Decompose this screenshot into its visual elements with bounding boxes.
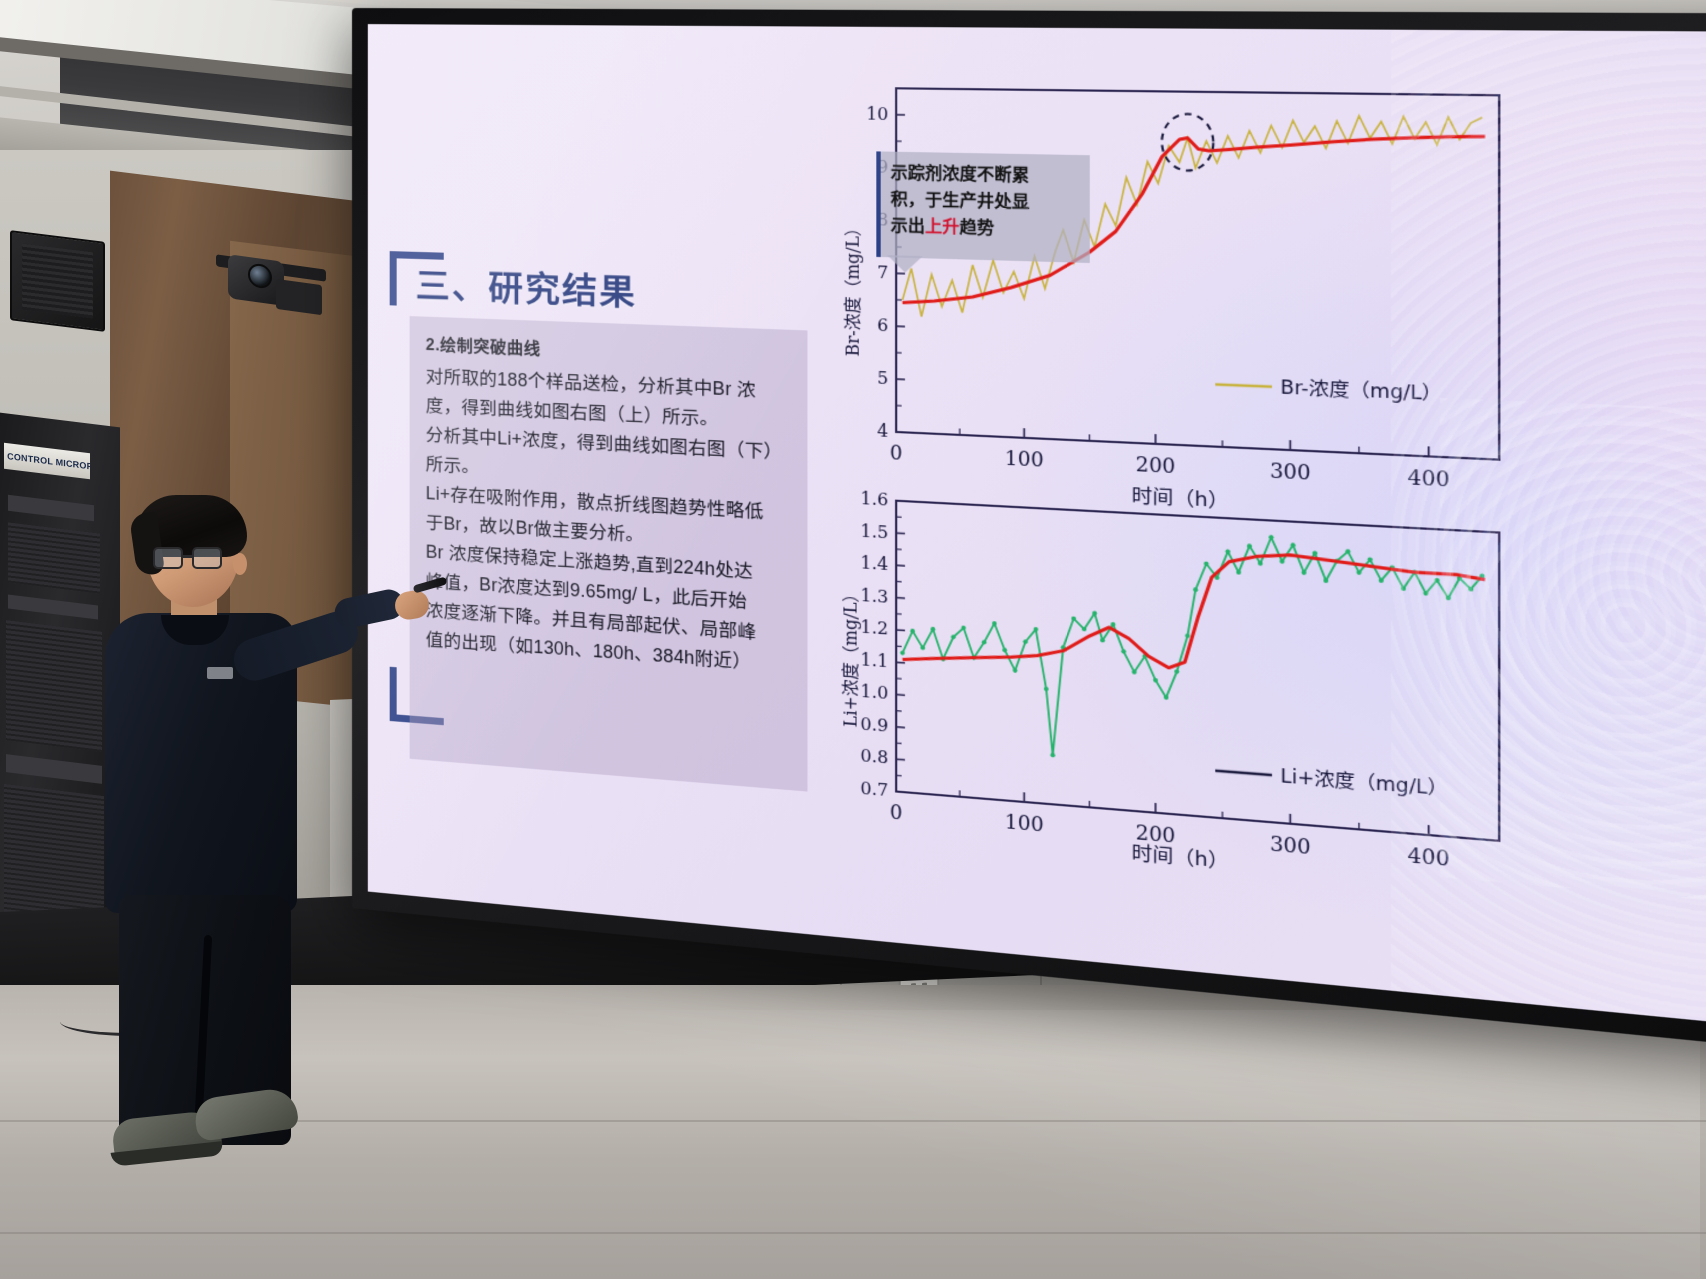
shirt-logo [207,667,233,679]
eyeglasses-left-lens [153,547,183,569]
svg-text:0.9: 0.9 [860,714,888,736]
callout-tail [887,255,922,273]
br-x-axis-ticks: 0100200300400 [890,422,1450,492]
conference-room-scene: AUDIO CONTROL MICROPHONE 三、研究结果 2.绘制突破曲线… [0,0,1706,1279]
svg-text:100: 100 [1005,448,1044,472]
eyeglasses-right-lens [192,547,222,569]
br-plot-frame [896,88,1499,459]
presenter-ear [233,553,247,575]
li-y-axis-label: Li+浓度（mg/L） [840,585,861,728]
svg-text:100: 100 [1005,811,1044,837]
speaker-grill [22,244,93,319]
slide-surface: 三、研究结果 2.绘制突破曲线 对所取的188个样品送检，分析其中Br 浓 度，… [368,24,1706,1037]
svg-text:1.3: 1.3 [860,585,888,607]
svg-text:400: 400 [1408,466,1450,492]
svg-text:1.0: 1.0 [860,681,888,703]
slide-text-panel: 2.绘制突破曲线 对所取的188个样品送检，分析其中Br 浓 度，得到曲线如图右… [410,316,808,792]
svg-text:Li+浓度（mg/L）: Li+浓度（mg/L） [1280,765,1448,800]
svg-text:300: 300 [1270,460,1311,485]
callout-text-post: 趋势 [960,219,995,238]
svg-text:0.8: 0.8 [860,746,888,768]
floor-reflection [300,1010,1700,1279]
li-raw-series [902,517,1482,788]
svg-text:4: 4 [877,420,888,441]
callout-line-1: 示踪剂浓度不断累 [891,160,1083,191]
svg-text:10: 10 [866,104,888,124]
li-chart-svg: 0.70.80.91.01.11.21.31.41.51.6 010020030… [841,487,1518,904]
li-trend-series [902,533,1485,699]
svg-text:300: 300 [1270,833,1311,860]
led-display-wall[interactable]: 三、研究结果 2.绘制突破曲线 对所取的188个样品送检，分析其中Br 浓 度，… [352,8,1706,1060]
callout-line-3: 示出上升趋势 [891,213,1083,245]
li-x-axis-label: 时间（h） [1132,842,1229,873]
presenter-person [95,495,355,1175]
rack-vent [6,620,102,752]
svg-text:1.1: 1.1 [860,649,888,671]
camera-bracket [276,279,322,315]
svg-text:5: 5 [877,368,888,389]
svg-text:0.7: 0.7 [860,778,888,800]
br-chart-svg: 45678910 0100200300400 Br-浓度（mg/L） Br-浓度… [841,77,1518,533]
svg-text:1.5: 1.5 [860,520,888,542]
br-legend: Br-浓度（mg/L） [1215,373,1442,404]
floor-tile-line [0,1232,1706,1234]
svg-text:1.6: 1.6 [860,488,888,510]
svg-text:Br-浓度（mg/L）: Br-浓度（mg/L） [1280,376,1442,405]
svg-text:1.2: 1.2 [860,617,888,639]
callout-text-pre: 示出 [891,217,925,236]
callout-box: 示踪剂浓度不断累 积，于生产井处显 示出上升趋势 [876,151,1089,263]
svg-text:6: 6 [877,315,888,336]
li-legend: Li+浓度（mg/L） [1215,760,1448,800]
svg-text:0: 0 [890,801,903,824]
li-breakthrough-chart: 0.70.80.91.01.11.21.31.41.51.6 010020030… [841,487,1518,904]
li-y-axis-ticks: 0.70.80.91.01.11.21.31.41.51.6 [860,488,905,802]
svg-text:200: 200 [1136,454,1176,479]
slide-title: 三、研究结果 [416,258,637,315]
eyeglasses-bridge [183,555,194,558]
br-breakthrough-chart: 45678910 0100200300400 Br-浓度（mg/L） Br-浓度… [841,77,1518,533]
wall-speaker [10,230,105,332]
svg-text:400: 400 [1408,844,1450,871]
svg-text:0: 0 [890,442,903,465]
callout-highlight: 上升 [925,218,960,237]
rack-vent [8,522,100,593]
svg-text:1.4: 1.4 [860,553,888,575]
br-y-axis-label: Br-浓度（mg/L） [842,219,863,357]
